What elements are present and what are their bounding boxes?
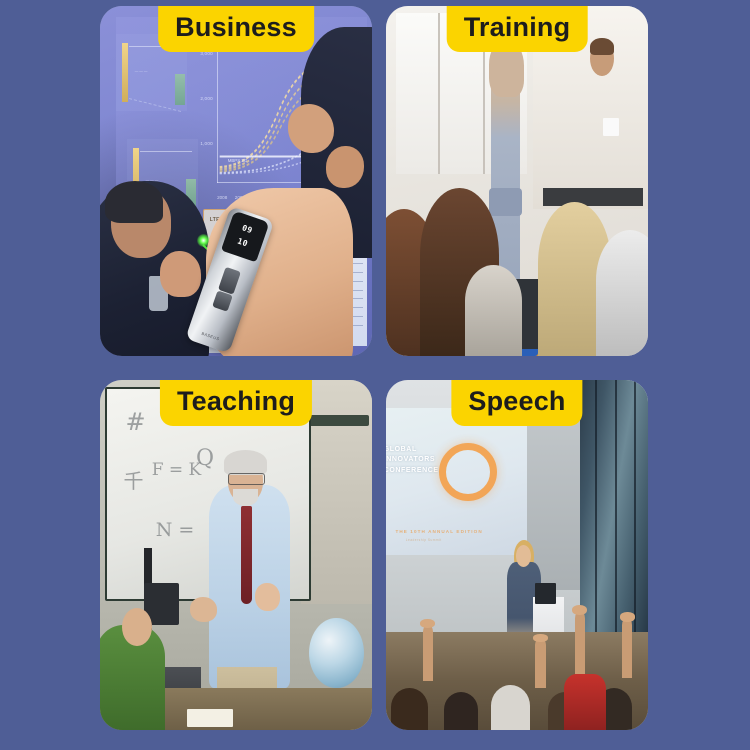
slide-title-line-2: CONFERENCE: [386, 466, 439, 477]
slide-title-line-0: GLOBAL: [386, 445, 439, 456]
training-instructor: [572, 62, 632, 202]
foreground-student-head: [122, 608, 152, 647]
instructor-name-badge: [603, 118, 619, 136]
globe: [309, 618, 363, 688]
chart-x-tick-0: 2008: [217, 195, 227, 200]
bar-panel-1-note: — — —: [135, 69, 148, 74]
professor-glasses: [228, 473, 265, 486]
sleeve-cuff: [489, 188, 522, 216]
promo-grid-page: 3,000 2,000 1,000 MBPS 3G TOTAL MBPS 3G: [0, 0, 750, 750]
speech-photo: GLOBAL INNOVATORS CONFERENCE THE 10TH AN…: [386, 380, 648, 730]
business-photo: 3,000 2,000 1,000 MBPS 3G TOTAL MBPS 3G: [100, 6, 372, 356]
whiteboard-note-0: #: [126, 408, 146, 436]
presenter-hand-2: [326, 146, 364, 188]
training-photo: [386, 6, 648, 356]
instructor-desk: [543, 188, 643, 206]
teaching-photo: # 千 F = K Q N =: [100, 380, 372, 730]
audience-raised-arm-1: [423, 625, 433, 681]
whiteboard-note-3: Q: [196, 446, 214, 471]
slide-subtitle: THE 10TH ANNUAL EDITION: [395, 529, 482, 534]
chart-y-tick-2: 1,000: [200, 141, 213, 146]
whiteboard-note-2: F = K: [152, 460, 202, 480]
remote-button-primary[interactable]: [218, 266, 241, 294]
attendee-3: [465, 265, 523, 356]
bar-yellow: [122, 43, 128, 102]
slide-subtitle-small: Leadership Summit: [406, 538, 442, 542]
attendee-5: [596, 230, 648, 356]
professor-tie: [241, 506, 252, 604]
panel-label-business: Business: [158, 6, 314, 52]
instructor-hair: [590, 38, 614, 56]
audience-raised-arm-2: [535, 639, 545, 688]
panel-business[interactable]: 3,000 2,000 1,000 MBPS 3G TOTAL MBPS 3G: [100, 6, 372, 356]
whiteboard-note-4: N =: [156, 519, 195, 541]
panel-grid: 3,000 2,000 1,000 MBPS 3G TOTAL MBPS 3G: [0, 0, 750, 750]
slide-title: GLOBAL INNOVATORS CONFERENCE: [386, 445, 439, 477]
panel-training[interactable]: Training: [386, 6, 648, 356]
panel-label-training: Training: [447, 6, 588, 52]
bar-cap: [175, 74, 185, 105]
panel-speech[interactable]: GLOBAL INNOVATORS CONFERENCE THE 10TH AN…: [386, 380, 648, 730]
panel-label-speech: Speech: [451, 380, 582, 426]
professor-beard: [233, 489, 257, 507]
professor-hair: [224, 450, 268, 475]
remote-brand-label: BASEUS: [188, 325, 233, 345]
chart-flat-label: MBPS 3G: [228, 158, 248, 163]
glass-wall: [580, 380, 648, 660]
panel-label-teaching: Teaching: [160, 380, 312, 426]
audience-head-3: [491, 685, 530, 731]
board-rail: [304, 415, 369, 426]
attendee-clapping-hands: [160, 251, 201, 297]
conference-slide: GLOBAL INNOVATORS CONFERENCE THE 10TH AN…: [386, 408, 527, 555]
professor-hand-left: [190, 597, 217, 622]
audience-head-1: [391, 688, 428, 730]
desk-paper: [187, 709, 233, 727]
lectern-monitor: [535, 583, 556, 604]
remote-display: 09 10: [221, 210, 270, 262]
audience-raised-arm-3: [575, 611, 585, 674]
audience-raised-arm-4: [622, 618, 632, 678]
attendee-hair: [105, 181, 162, 223]
audience-red-shirt: [564, 674, 606, 730]
slide-ring-logo: [439, 443, 497, 501]
panel-teaching[interactable]: # 千 F = K Q N =: [100, 380, 372, 730]
professor-hand-right: [255, 583, 279, 611]
whiteboard-note-1: 千: [124, 465, 144, 494]
audience-head-2: [444, 692, 478, 731]
slide-title-line-1: INNOVATORS: [386, 455, 439, 466]
presenter-hand: [288, 104, 334, 153]
chart-y-tick-1: 2,000: [200, 96, 213, 101]
